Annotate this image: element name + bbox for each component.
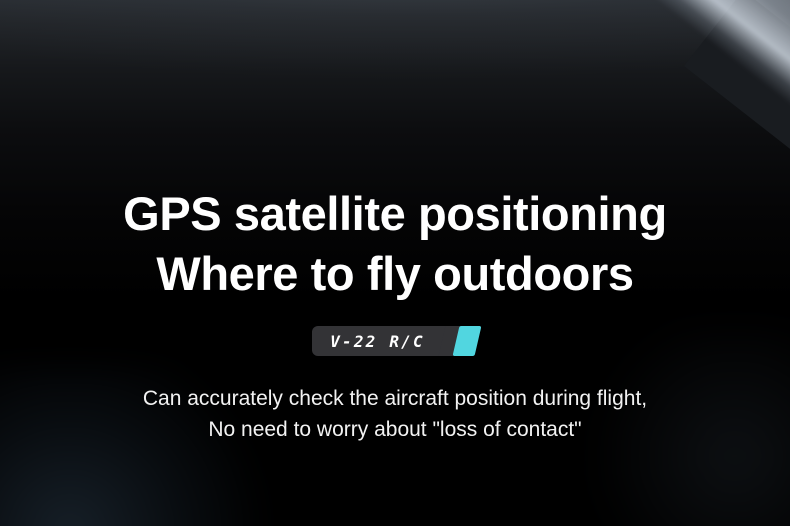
model-badge-label: V-22 R/C (330, 332, 425, 351)
subtitle-line-2: No need to worry about "loss of contact" (143, 414, 647, 445)
subtitle: Can accurately check the aircraft positi… (143, 383, 647, 445)
headline-line-2: Where to fly outdoors (123, 244, 667, 304)
headline: GPS satellite positioning Where to fly o… (123, 0, 667, 304)
product-hero-banner: GPS satellite positioning Where to fly o… (0, 0, 790, 526)
model-badge-body: V-22 R/C (312, 326, 451, 356)
headline-line-1: GPS satellite positioning (123, 184, 667, 244)
subtitle-line-1: Can accurately check the aircraft positi… (143, 383, 647, 414)
banner-content: GPS satellite positioning Where to fly o… (0, 0, 790, 526)
model-badge: V-22 R/C (312, 326, 478, 356)
